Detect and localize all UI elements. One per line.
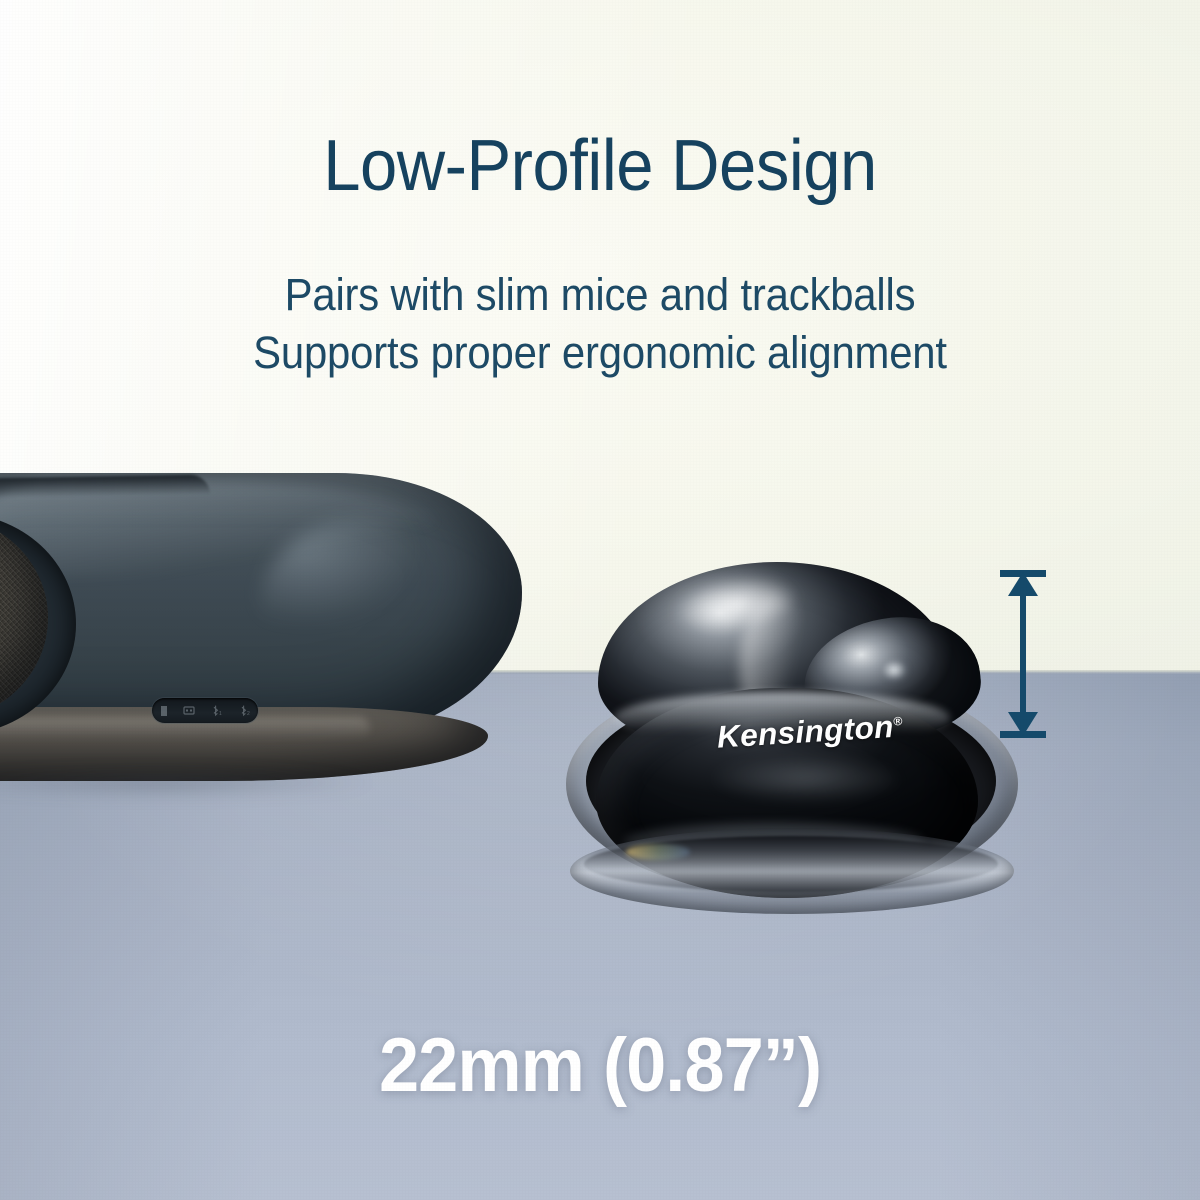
base-prism-reflection: [626, 844, 690, 860]
bluetooth-1-icon: 1: [210, 704, 223, 717]
page-title: Low-Profile Design: [42, 130, 1158, 202]
slim-trackball-mouse: 1 2: [0, 455, 550, 815]
subtitle-block: Pairs with slim mice and trackballs Supp…: [42, 266, 1158, 382]
mouse-nose-highlight: [260, 515, 490, 693]
front-dome-sheen: [652, 752, 902, 818]
mouse-status-indicator-panel: 1 2: [152, 698, 258, 723]
vertical-dimension-arrow: [996, 566, 1050, 742]
gel-wrist-rest: Kensington®: [560, 556, 1030, 936]
bluetooth-2-icon: 2: [238, 704, 251, 717]
brand-registered-mark: ®: [893, 714, 903, 729]
svg-text:2: 2: [247, 711, 250, 717]
measurement-label: 22mm (0.87”): [30, 1022, 1170, 1109]
svg-text:1: 1: [219, 711, 222, 717]
battery-icon: [160, 705, 168, 717]
usb-receiver-icon: [183, 705, 195, 716]
product-marketing-image: Low-Profile Design Pairs with slim mice …: [0, 0, 1200, 1200]
mouse-contact-shadow: [0, 761, 490, 805]
right-lobe-reflection: [872, 652, 916, 688]
subtitle-line-1: Pairs with slim mice and trackballs: [42, 266, 1158, 324]
subtitle-line-2: Supports proper ergonomic alignment: [42, 324, 1158, 382]
